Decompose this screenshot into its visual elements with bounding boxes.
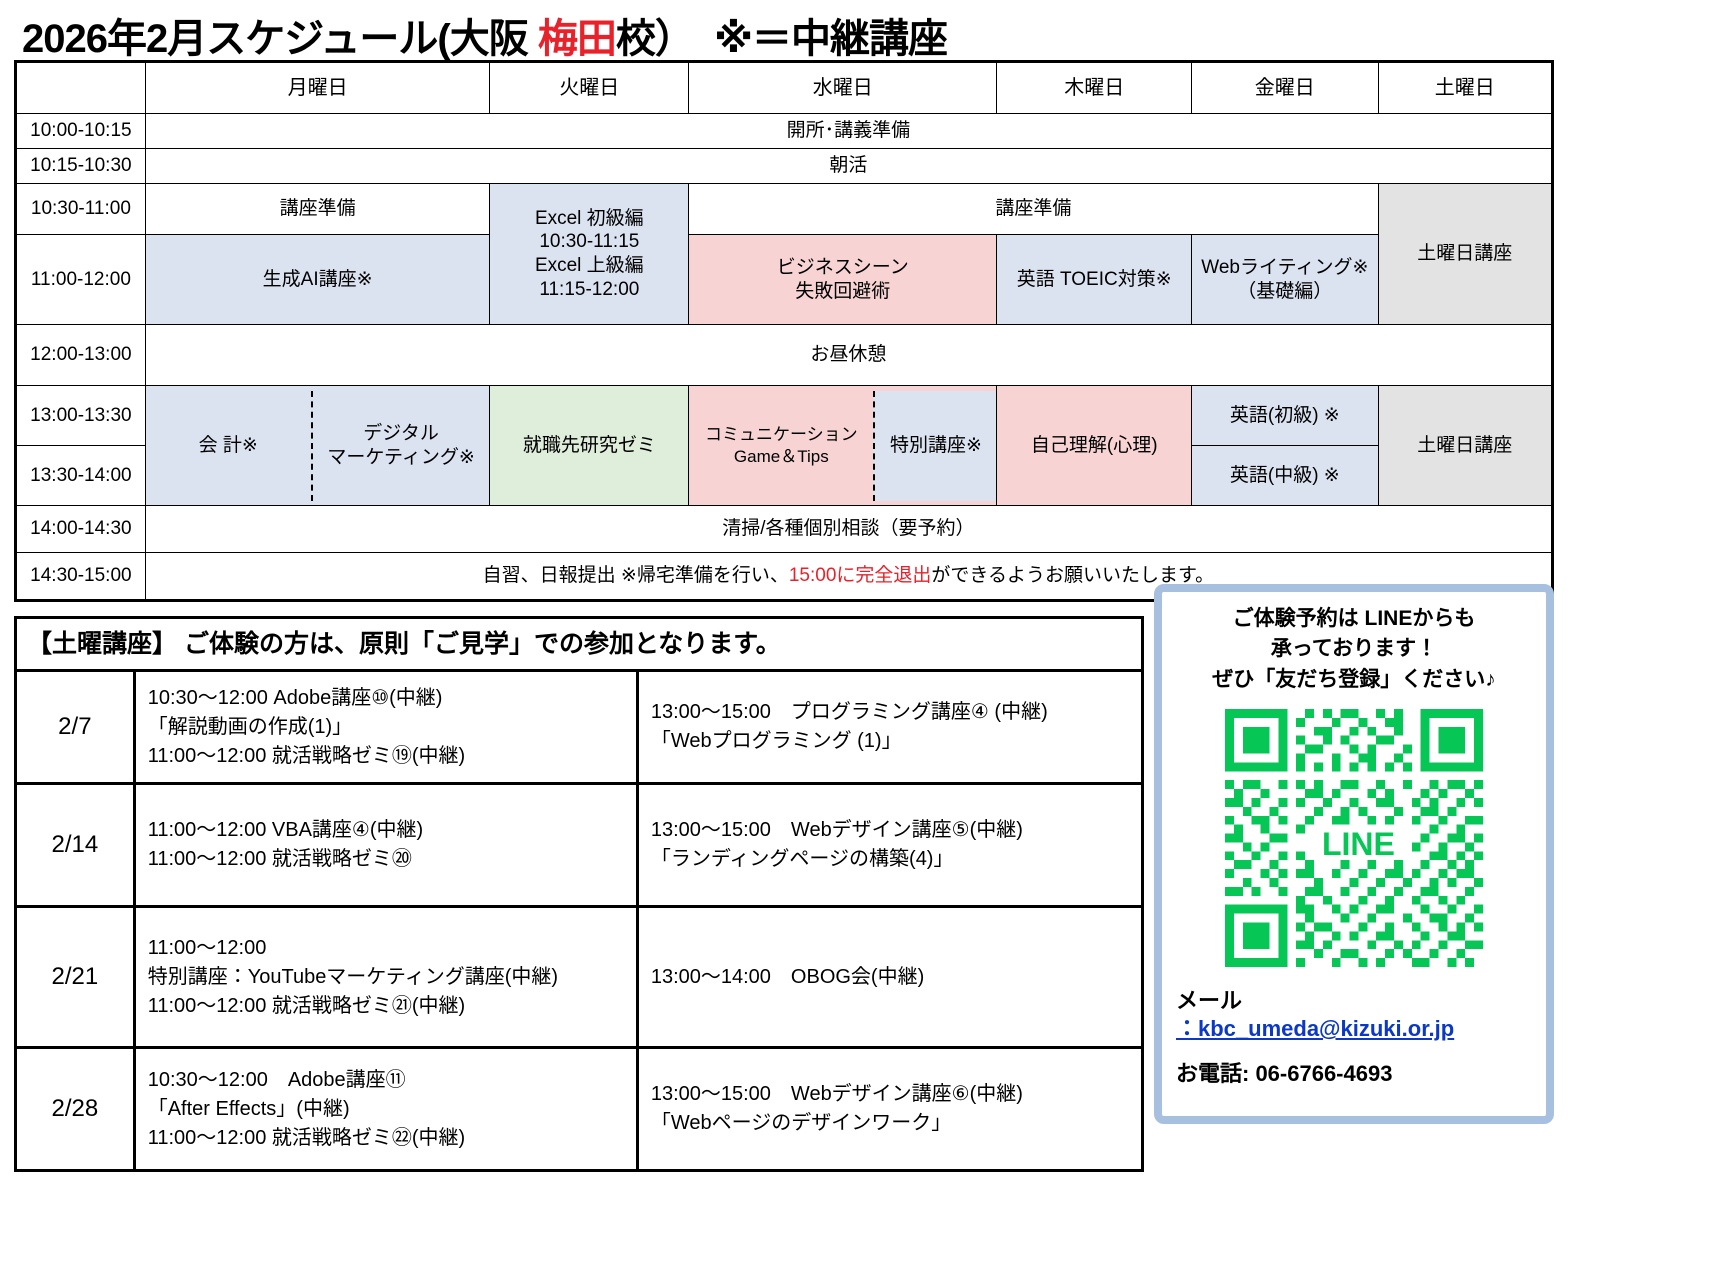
table-row: 2/7 10:30〜12:00 Adobe講座⑩(中継) 「解説動画の作成(1)… (16, 671, 1143, 784)
saturday-morning-courses: 11:00〜12:00 VBA講座④(中継) 11:00〜12:00 就活戦略ゼ… (134, 784, 637, 907)
weekly-schedule: 月曜日 火曜日 水曜日 木曜日 金曜日 土曜日 10:00-10:15 開所･講… (14, 60, 1554, 602)
cell-fri-english-mid: 英語(中級) ※ (1192, 446, 1379, 506)
saturday-date: 2/7 (16, 671, 135, 784)
time-label: 11:00-12:00 (16, 235, 146, 325)
contact-block: メール ：kbc_umeda@kizuki.or.jp お電話: 06-6766… (1170, 983, 1538, 1088)
saturday-morning-courses: 11:00〜12:00 特別講座：YouTubeマーケティング講座(中継) 11… (134, 907, 637, 1048)
table-row: 11:00-12:00 生成AI講座※ ビジネスシーン 失敗回避術 英語 TOE… (16, 235, 1553, 325)
cell-sat-morning: 土曜日講座 (1378, 184, 1552, 325)
saturday-morning-courses: 10:30〜12:00 Adobe講座⑩(中継) 「解説動画の作成(1)」 11… (134, 671, 637, 784)
corner-cell (16, 62, 146, 114)
table-row: 10:15-10:30 朝活 (16, 149, 1553, 184)
cell-fri-english-basic: 英語(初級) ※ (1192, 386, 1379, 446)
saturday-afternoon-courses: 13:00〜15:00 Webデザイン講座⑥(中継) 「Webページのデザインワ… (637, 1048, 1142, 1171)
cell-prep-rest: 講座準備 (689, 184, 1378, 235)
time-label: 12:00-13:00 (16, 325, 146, 386)
time-label: 13:00-13:30 (16, 386, 146, 446)
time-label: 10:30-11:00 (16, 184, 146, 235)
cell-open-prep: 開所･講義準備 (145, 114, 1552, 149)
saturday-afternoon-courses: 13:00〜14:00 OBOG会(中継) (637, 907, 1142, 1048)
page-title: 2026年2月スケジュール(大阪 梅田校） ※＝中継講座 (22, 6, 947, 64)
cell-tue-excel: Excel 初級編 10:30-11:15 Excel 上級編 11:15-12… (490, 184, 689, 325)
title-main-before: 2026年2月スケジュール(大阪 (22, 17, 538, 61)
saturday-date: 2/21 (16, 907, 135, 1048)
table-header-row: 月曜日 火曜日 水曜日 木曜日 金曜日 土曜日 (16, 62, 1553, 114)
svg-text:LINE: LINE (1322, 826, 1395, 862)
line-contact-panel: ご体験予約は LINEからも 承っております！ ぜひ「友だち登録」ください♪ (1154, 584, 1554, 1124)
time-label: 10:00-10:15 (16, 114, 146, 149)
selfstudy-text-red: 15:00に完全退出 (789, 565, 932, 586)
cell-thu-toeic: 英語 TOEIC対策※ (997, 235, 1192, 325)
day-header-thu: 木曜日 (997, 62, 1192, 114)
cell-wed-special: 特別講座※ (873, 391, 996, 501)
table-row: 10:00-10:15 開所･講義準備 (16, 114, 1553, 149)
table-row: 2/21 11:00〜12:00 特別講座：YouTubeマーケティング講座(中… (16, 907, 1143, 1048)
day-header-mon: 月曜日 (145, 62, 490, 114)
saturday-header: 【土曜講座】 ご体験の方は、原則「ご見学」での参加となります。 (16, 618, 1143, 671)
saturday-date: 2/28 (16, 1048, 135, 1171)
saturday-afternoon-courses: 13:00〜15:00 プログラミング講座④ (中継) 「Webプログラミング … (637, 671, 1142, 784)
cell-mon-1030: 講座準備 (145, 184, 490, 235)
mail-label: メール (1176, 983, 1538, 1015)
table-row: 14:00-14:30 清掃/各種個別相談（要予約） (16, 506, 1553, 553)
saturday-course-section: 【土曜講座】 ご体験の方は、原則「ご見学」での参加となります。 2/7 10:3… (14, 616, 1144, 1172)
title-highlight: 梅田 (538, 17, 616, 61)
selfstudy-text-a: 自習、日報提出 ※帰宅準備を行い、 (483, 565, 789, 586)
time-label: 13:30-14:00 (16, 446, 146, 506)
cell-tue-job-research: 就職先研究ゼミ (490, 386, 689, 506)
cell-tue-excel-text: Excel 初級編 10:30-11:15 Excel 上級編 11:15-12… (493, 207, 685, 302)
time-label: 14:00-14:30 (16, 506, 146, 553)
cell-thu-self-understanding: 自己理解(心理) (997, 386, 1192, 506)
table-row: 13:00-13:30 会 計※ デジタル マーケティング※ 就職先研究ゼミ コ… (16, 386, 1553, 446)
line-qr-code[interactable]: LINE (1225, 709, 1483, 967)
qr-code-icon: LINE (1225, 709, 1483, 967)
day-header-wed: 水曜日 (689, 62, 997, 114)
cell-mon-afternoon: 会 計※ デジタル マーケティング※ (145, 386, 490, 506)
time-label: 14:30-15:00 (16, 553, 146, 601)
saturday-morning-courses: 10:30〜12:00 Adobe講座⑪ 「After Effects」(中継)… (134, 1048, 637, 1171)
cell-wed-afternoon: コミュニケーション Game＆Tips 特別講座※ (689, 386, 997, 506)
cell-cleanup: 清掃/各種個別相談（要予約） (145, 506, 1552, 553)
cell-morning-activity: 朝活 (145, 149, 1552, 184)
saturday-date: 2/14 (16, 784, 135, 907)
time-label: 10:15-10:30 (16, 149, 146, 184)
cell-mon-accounting: 会 計※ (146, 391, 311, 501)
selfstudy-text-b: ができるようお願いいたします。 (931, 565, 1214, 586)
cell-sat-afternoon: 土曜日講座 (1378, 386, 1552, 506)
schedule-table: 月曜日 火曜日 水曜日 木曜日 金曜日 土曜日 10:00-10:15 開所･講… (14, 60, 1554, 602)
table-row: 12:00-13:00 お昼休憩 (16, 325, 1553, 386)
day-header-tue: 火曜日 (490, 62, 689, 114)
saturday-table: 【土曜講座】 ご体験の方は、原則「ご見学」での参加となります。 2/7 10:3… (14, 616, 1144, 1172)
cell-fri-webwriting: Webライティング※ （基礎編） (1192, 235, 1379, 325)
email-link[interactable]: ：kbc_umeda@kizuki.or.jp (1176, 1015, 1538, 1044)
cell-lunch-break: お昼休憩 (145, 325, 1552, 386)
schedule-poster: 2026年2月スケジュール(大阪 梅田校） ※＝中継講座 月曜日 火曜日 水曜日… (0, 0, 1714, 1262)
cell-wed-business: ビジネスシーン 失敗回避術 (689, 235, 997, 325)
telephone-text: お電話: 06-6766-4693 (1176, 1056, 1538, 1088)
cell-mon-ai: 生成AI講座※ (145, 235, 490, 325)
title-main-after: 校） (616, 17, 694, 61)
cell-mon-digital-marketing: デジタル マーケティング※ (311, 391, 490, 501)
qr-code-holder: LINE (1170, 709, 1538, 967)
day-header-fri: 金曜日 (1192, 62, 1379, 114)
line-panel-heading: ご体験予約は LINEからも 承っております！ ぜひ「友だち登録」ください♪ (1170, 604, 1538, 695)
saturday-header-row: 【土曜講座】 ご体験の方は、原則「ご見学」での参加となります。 (16, 618, 1143, 671)
table-row: 2/28 10:30〜12:00 Adobe講座⑪ 「After Effects… (16, 1048, 1143, 1171)
saturday-afternoon-courses: 13:00〜15:00 Webデザイン講座⑤(中継) 「ランディングページの構築… (637, 784, 1142, 907)
cell-wed-communication: コミュニケーション Game＆Tips (689, 391, 873, 501)
table-row: 10:30-11:00 講座準備 Excel 初級編 10:30-11:15 E… (16, 184, 1553, 235)
table-row: 2/14 11:00〜12:00 VBA講座④(中継) 11:00〜12:00 … (16, 784, 1143, 907)
day-header-sat: 土曜日 (1378, 62, 1552, 114)
title-note: ※＝中継講座 (714, 17, 947, 61)
